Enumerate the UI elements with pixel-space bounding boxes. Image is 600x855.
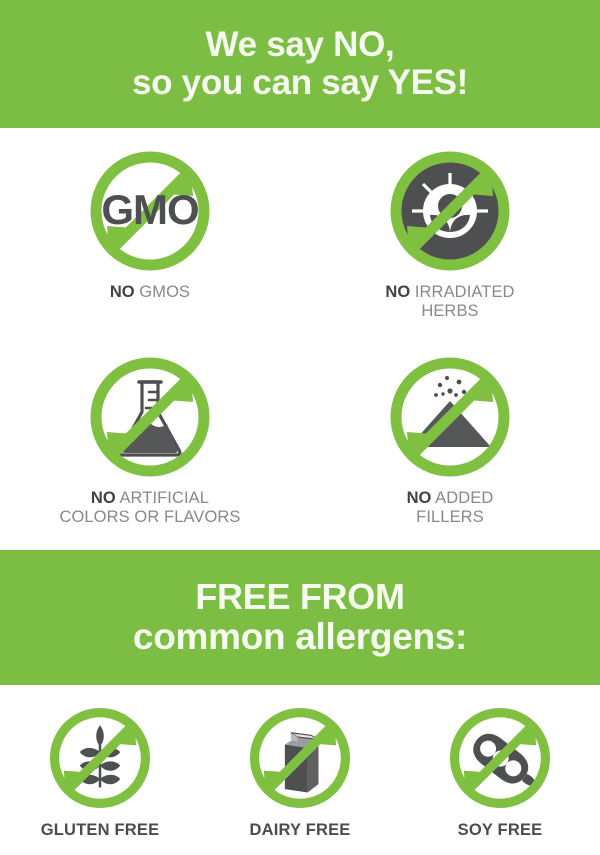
gluten-free-item: GLUTEN FREE <box>0 697 200 855</box>
no-irradiated-herbs-item: NO IRRADIATED HERBS <box>300 140 600 340</box>
soy-free-label: SOY FREE <box>458 821 543 840</box>
no-prefix: NO <box>385 283 410 301</box>
dairy-free-label: DAIRY FREE <box>249 821 350 840</box>
no-artificial-colors-caption: NO ARTIFICIAL COLORS OR FLAVORS <box>59 489 240 527</box>
gluten-free-wheat-icon <box>47 705 153 811</box>
no-added-fillers-label-line-2: FILLERS <box>407 508 494 527</box>
no-artificial-colors-item: NO ARTIFICIAL COLORS OR FLAVORS <box>0 340 300 540</box>
top-headline-line-1: We say NO, <box>206 26 395 64</box>
free-from-line-2: common allergens: <box>133 617 467 657</box>
no-artificial-colors-label-line-2: COLORS OR FLAVORS <box>59 508 240 527</box>
free-from-banner: FREE FROM common allergens: <box>0 550 600 685</box>
no-added-fillers-icon <box>387 354 513 480</box>
no-added-fillers-caption: NO ADDED FILLERS <box>407 489 494 527</box>
no-claims-grid: GMO NO GMOS <box>0 140 600 540</box>
no-irradiated-herbs-label-line-2: HERBS <box>385 302 514 321</box>
top-headline-banner: We say NO, so you can say YES! <box>0 0 600 128</box>
no-irradiated-herbs-caption: NO IRRADIATED HERBS <box>385 283 514 321</box>
no-irradiated-herbs-label-line-1: IRRADIATED <box>415 283 515 301</box>
no-artificial-colors-flask-icon <box>87 354 213 480</box>
gluten-free-label: GLUTEN FREE <box>41 821 160 840</box>
allergen-free-row: GLUTEN FREE <box>0 697 600 855</box>
no-irradiated-herbs-icon <box>387 148 513 274</box>
dairy-free-item: DAIRY FREE <box>200 697 400 855</box>
no-added-fillers-label-line-1: ADDED <box>435 489 493 507</box>
no-gmos-item: GMO NO GMOS <box>0 140 300 340</box>
no-gmo-icon: GMO <box>87 148 213 274</box>
soy-free-item: SOY FREE <box>400 697 600 855</box>
dairy-free-milk-carton-icon <box>247 705 353 811</box>
no-gmos-caption: NO GMOS <box>110 283 190 302</box>
top-headline-line-2: so you can say YES! <box>132 64 468 102</box>
no-prefix: NO <box>407 489 432 507</box>
no-prefix: NO <box>91 489 116 507</box>
no-gmos-label-line-1: GMOS <box>139 283 190 301</box>
no-prefix: NO <box>110 283 135 301</box>
no-added-fillers-item: NO ADDED FILLERS <box>300 340 600 540</box>
infographic-page: We say NO, so you can say YES! GMO <box>0 0 600 855</box>
free-from-line-1: FREE FROM <box>195 578 404 617</box>
soy-free-soybean-icon <box>447 705 553 811</box>
no-artificial-colors-label-line-1: ARTIFICIAL <box>119 489 209 507</box>
gmo-wordmark: GMO <box>101 186 198 233</box>
